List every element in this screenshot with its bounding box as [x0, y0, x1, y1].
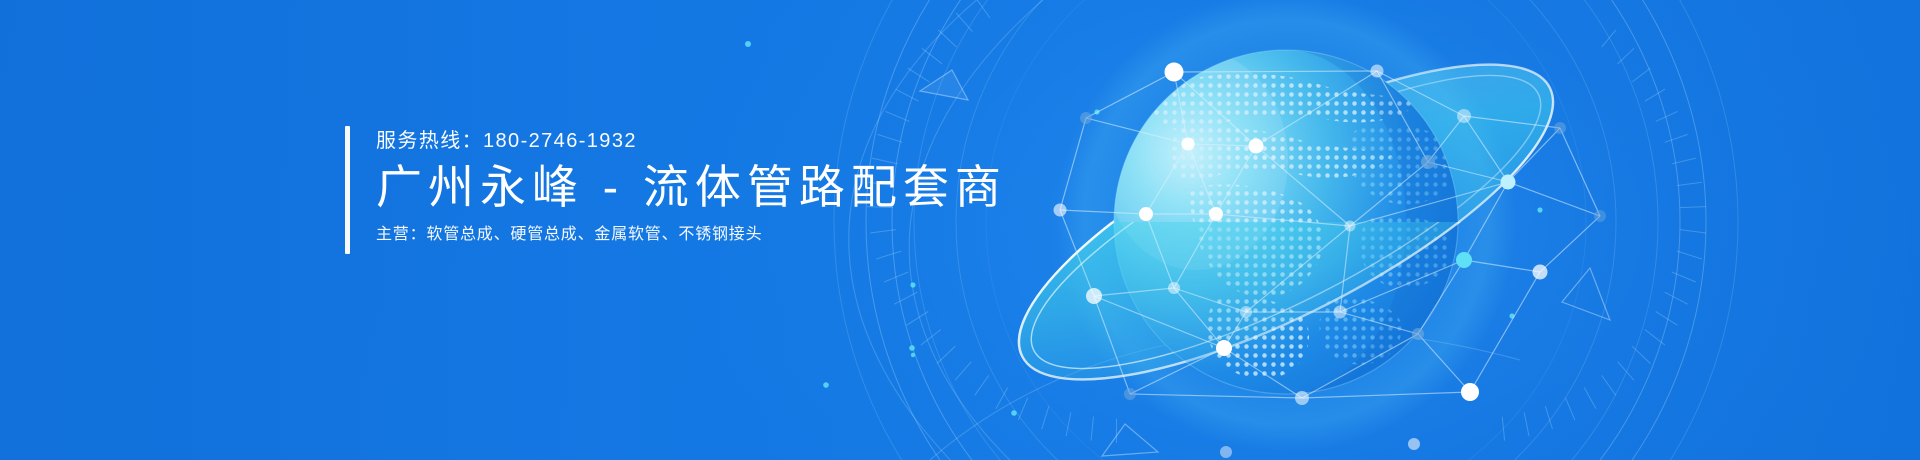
text-column: 服务热线：180-2746-1932 广州永峰 - 流体管路配套商 主营：软管总…: [350, 126, 1007, 254]
banner-text-block: 服务热线：180-2746-1932 广州永峰 - 流体管路配套商 主营：软管总…: [345, 126, 1007, 254]
accent-bar: [345, 126, 350, 254]
page-title: 广州永峰 - 流体管路配套商: [376, 158, 1007, 216]
product-subtitle: 主营：软管总成、硬管总成、金属软管、不锈钢接头: [376, 224, 1007, 246]
hero-banner: 服务热线：180-2746-1932 广州永峰 - 流体管路配套商 主营：软管总…: [0, 0, 1920, 460]
service-hotline: 服务热线：180-2746-1932: [376, 128, 1007, 154]
